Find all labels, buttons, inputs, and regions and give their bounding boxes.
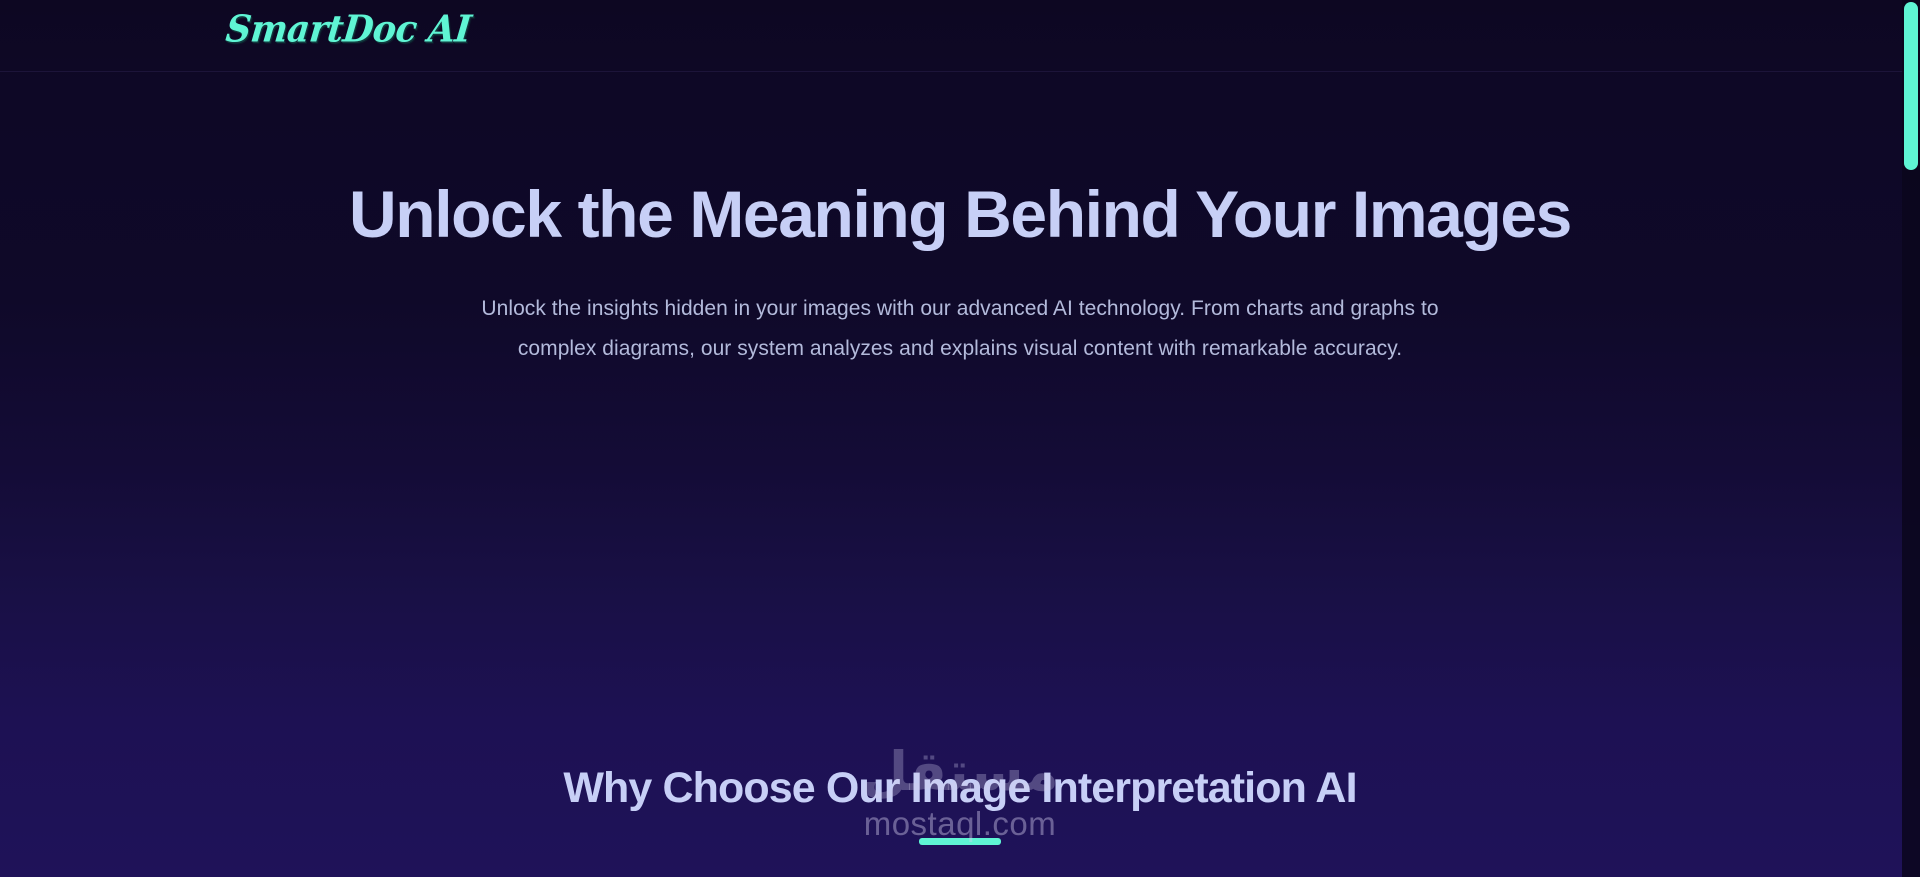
page-scrollbar-track[interactable] <box>1902 0 1920 877</box>
page-scrollbar-thumb[interactable] <box>1904 2 1918 170</box>
features-accent-rule <box>919 838 1001 845</box>
hero-section: Unlock the Meaning Behind Your Images Un… <box>0 72 1920 369</box>
brand-logo[interactable]: SmartDoc AI <box>224 8 473 51</box>
site-header: SmartDoc AI <box>0 0 1920 72</box>
features-heading: Why Choose Our Image Interpretation AI <box>0 760 1920 816</box>
features-section: Why Choose Our Image Interpretation AI <box>0 760 1920 845</box>
hero-subtitle: Unlock the insights hidden in your image… <box>0 289 1920 369</box>
page-title: Unlock the Meaning Behind Your Images <box>0 172 1920 257</box>
page-root: SmartDoc AI Unlock the Meaning Behind Yo… <box>0 0 1920 877</box>
